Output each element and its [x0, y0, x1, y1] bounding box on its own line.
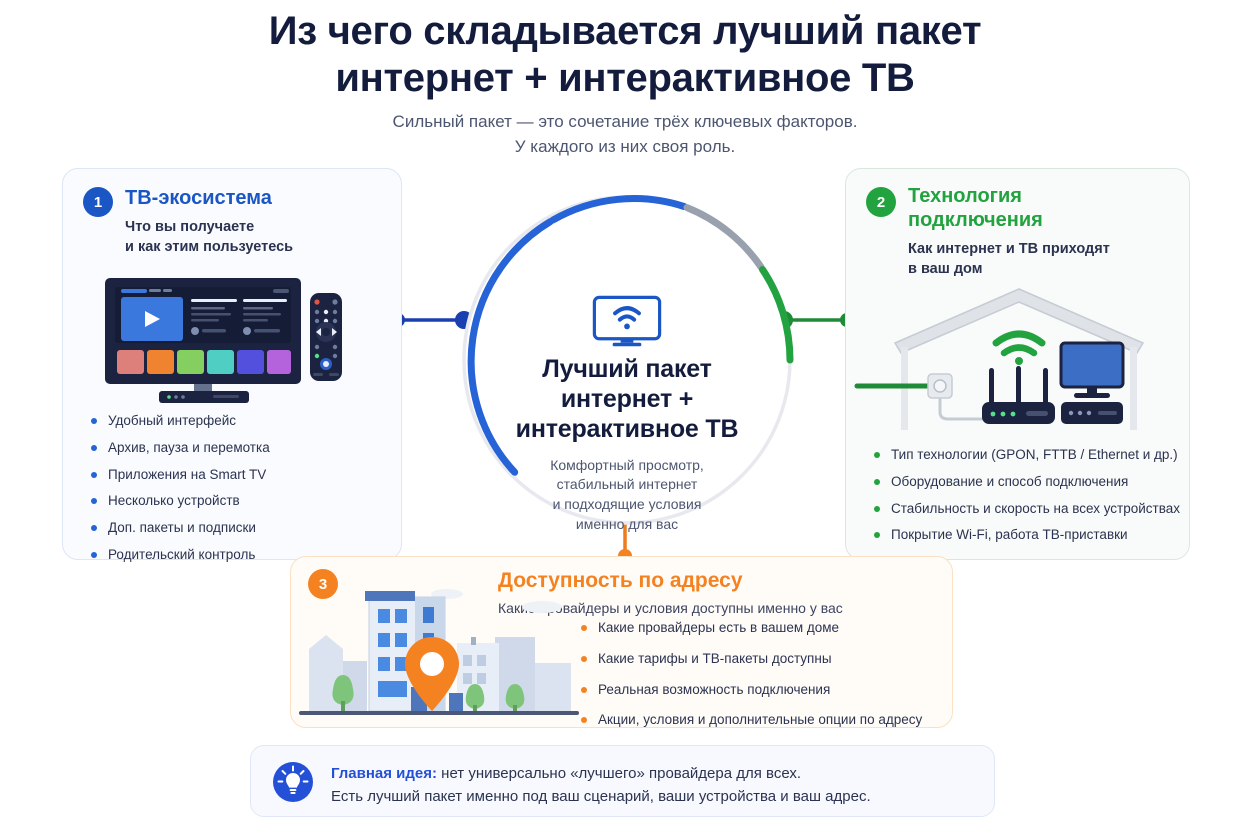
page-title-line-2: интернет + интерактивное ТВ — [0, 55, 1250, 102]
infographic-canvas: Из чего складывается лучший пакет интерн… — [0, 0, 1250, 833]
card-3-bullet-list: Какие провайдеры есть в вашем доме Какие… — [581, 619, 922, 742]
key-idea-line-1-rest: нет универсально «лучшего» провайдера дл… — [437, 765, 801, 782]
smart-tv-with-remote-illustration — [101, 274, 351, 404]
card-tv-ecosystem[interactable]: 1 ТВ-экосистема Что вы получаете и как э… — [62, 168, 402, 560]
center-title: Лучший пакет интернет + интерактивное ТВ — [516, 354, 739, 444]
center-description: Комфортный просмотр, стабильный интернет… — [550, 456, 704, 536]
list-item: Удобный интерфейс — [91, 412, 270, 430]
card-connection-technology[interactable]: 2 Технология подключения Как интернет и … — [845, 168, 1190, 560]
city-with-location-pin-illustration — [299, 577, 579, 722]
card-2-subtitle-line-2: в ваш дом — [908, 259, 1110, 279]
page-subtitle-line-1: Сильный пакет — это сочетание трёх ключе… — [0, 110, 1250, 135]
card-2-number-badge: 2 — [866, 187, 896, 217]
center-hub: Лучший пакет интернет + интерактивное ТВ… — [452, 185, 802, 535]
key-idea-line-1: Главная идея: нет универсально «лучшего»… — [331, 762, 871, 785]
page-title: Из чего складывается лучший пакет интерн… — [0, 8, 1250, 102]
card-2-title-line-2: подключения — [908, 209, 1043, 233]
list-item: Архив, пауза и перемотка — [91, 439, 270, 457]
list-item: Несколько устройств — [91, 492, 270, 510]
card-1-number-badge: 1 — [83, 187, 113, 217]
key-idea-callout: Главная идея: нет универсально «лучшего»… — [250, 745, 995, 817]
tv-wifi-icon — [583, 295, 671, 348]
card-2-title: Технология подключения — [908, 185, 1043, 232]
list-item: Родительский контроль — [91, 546, 270, 564]
lightbulb-icon — [273, 762, 313, 802]
key-idea-line-2: Есть лучший пакет именно под ваш сценари… — [331, 785, 871, 808]
card-2-subtitle: Как интернет и ТВ приходят в ваш дом — [908, 239, 1110, 279]
card-1-bullet-list: Удобный интерфейс Архив, пауза и перемот… — [91, 412, 270, 573]
card-1-subtitle: Что вы получаете и как этим пользуетесь — [125, 217, 293, 257]
page-subtitle: Сильный пакет — это сочетание трёх ключе… — [0, 110, 1250, 159]
list-item: Акции, условия и дополнительные опции по… — [581, 711, 922, 729]
center-desc-line-1: Комфортный просмотр, — [550, 456, 704, 476]
card-2-subtitle-line-1: Как интернет и ТВ приходят — [908, 239, 1110, 259]
card-address-availability[interactable]: 3 Доступность по адресу Какие провайдеры… — [290, 556, 953, 728]
card-1-title: ТВ-экосистема — [125, 187, 272, 211]
card-2-bullet-list: Тип технологии (GPON, FTTB / Ethernet и … — [874, 446, 1180, 553]
center-desc-line-4: именно для вас — [550, 515, 704, 535]
list-item: Какие тарифы и ТВ-пакеты доступны — [581, 650, 922, 668]
card-1-subtitle-line-2: и как этим пользуетесь — [125, 237, 293, 257]
list-item: Приложения на Smart TV — [91, 466, 270, 484]
page-title-line-1: Из чего складывается лучший пакет — [0, 8, 1250, 55]
center-title-line-2: интернет + — [516, 384, 739, 414]
list-item: Стабильность и скорость на всех устройст… — [874, 500, 1180, 518]
list-item: Тип технологии (GPON, FTTB / Ethernet и … — [874, 446, 1180, 464]
center-desc-line-2: стабильный интернет — [550, 475, 704, 495]
list-item: Покрытие Wi-Fi, работа ТВ-приставки — [874, 526, 1180, 544]
list-item: Доп. пакеты и подписки — [91, 519, 270, 537]
house-with-router-illustration — [854, 281, 1184, 431]
center-title-line-1: Лучший пакет — [516, 354, 739, 384]
list-item: Какие провайдеры есть в вашем доме — [581, 619, 922, 637]
key-idea-lead: Главная идея: — [331, 765, 437, 782]
card-2-title-line-1: Технология — [908, 185, 1043, 209]
center-content: Лучший пакет интернет + интерактивное ТВ… — [452, 185, 802, 535]
center-title-line-3: интерактивное ТВ — [516, 414, 739, 444]
card-1-subtitle-line-1: Что вы получаете — [125, 217, 293, 237]
center-desc-line-3: и подходящие условия — [550, 495, 704, 515]
key-idea-text: Главная идея: нет универсально «лучшего»… — [331, 762, 871, 809]
page-subtitle-line-2: У каждого из них своя роль. — [0, 135, 1250, 160]
list-item: Реальная возможность подключения — [581, 681, 922, 699]
list-item: Оборудование и способ подключения — [874, 473, 1180, 491]
